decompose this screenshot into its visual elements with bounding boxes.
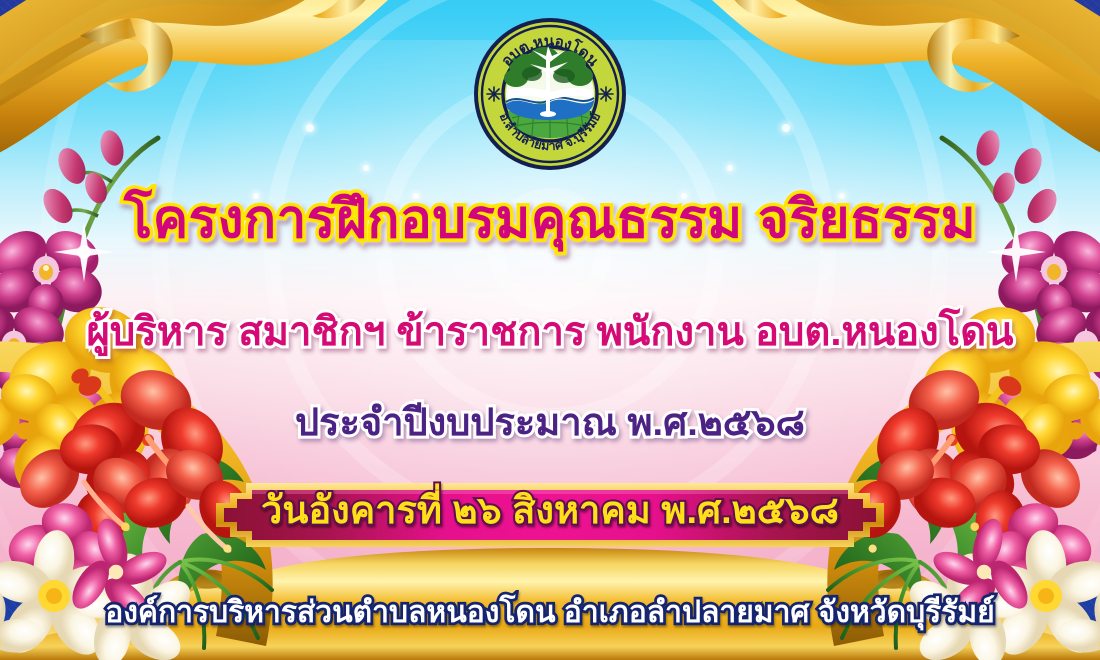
footer-organization-text: องค์การบริหารส่วนตำบลหนองโดน อำเภอลำปลาย… bbox=[0, 598, 1100, 628]
sparkle-dot bbox=[727, 165, 733, 171]
sparkle-dot bbox=[782, 124, 790, 132]
page-title-line-1: โครงการฝึกอบรมคุณธรรม จริยธรรม bbox=[0, 193, 1100, 246]
municipal-seal-icon: อบต.หนองโดน อ.ลำปลายมาศ จ.บุรีรัมย์ bbox=[472, 16, 628, 172]
event-banner: อบต.หนองโดน อ.ลำปลายมาศ จ.บุรีรัมย์ โครง… bbox=[0, 0, 1100, 660]
sparkle-dot bbox=[363, 165, 369, 171]
date-banner-text: วันอังคารที่ ๒๖ สิงหาคม พ.ศ.๒๕๖๘ bbox=[0, 492, 1100, 530]
page-title-line-3: ประจำปีงบประมาณ พ.ศ.๒๕๖๘ bbox=[0, 404, 1100, 442]
page-title-line-2: ผู้บริหาร สมาชิกฯ ข้าราชการ พนักงาน อบต.… bbox=[0, 312, 1100, 352]
sparkle-dot bbox=[306, 124, 314, 132]
